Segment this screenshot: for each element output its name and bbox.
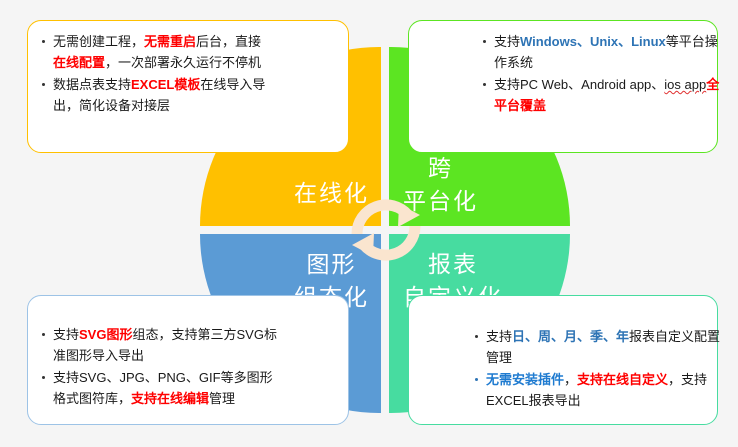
text-segment-highlight: EXCEL模板 [131,77,200,92]
text-segment: 数据点表支持 [53,77,131,92]
text-segment: 支持 [494,34,520,49]
diagram-canvas: 在线化 跨 平台化 图形 组态化 报表 自定义化 [0,0,738,447]
list-item: 无需安装插件，支持在线自定义，支持EXCEL报表导出 [473,369,723,411]
text-segment: 无需创建工程， [53,34,144,49]
text-segment: 支持 [486,329,512,344]
text-segment: 支持PC Web、Android app、 [494,77,664,92]
text-segment: 后台，直接 [196,34,261,49]
quadrant-graphics-line1: 图形 [294,248,369,281]
callout-online: 无需创建工程，无需重启后台，直接在线配置，一次部署永久运行不停机 数据点表支持E… [27,20,349,153]
text-segment: ，一次部署永久运行不停机 [105,55,261,70]
list-item: 支持PC Web、Android app、ios app全平台覆盖 [481,74,721,116]
callout-online-list: 无需创建工程，无需重启后台，直接在线配置，一次部署永久运行不停机 数据点表支持E… [40,31,270,116]
list-item: 支持SVG图形组态，支持第三方SVG标准图形导入导出 [40,324,278,366]
text-segment-highlight: 在线配置 [53,55,105,70]
text-segment-highlight: 支持在线自定义 [577,372,668,387]
callout-graphics-list: 支持SVG图形组态，支持第三方SVG标准图形导入导出 支持SVG、JPG、PNG… [40,324,278,409]
quadrant-cross-platform-line1: 跨 [403,152,478,185]
list-item: 支持日、周、月、季、年报表自定义配置管理 [473,326,723,368]
list-item: 数据点表支持EXCEL模板在线导入导出，简化设备对接层 [40,74,270,116]
text-segment-highlight: 无需重启 [144,34,196,49]
list-item: 支持SVG、JPG、PNG、GIF等多图形格式图符库，支持在线编辑管理 [40,367,278,409]
text-segment-highlight: 日、周、月、季、年 [512,329,629,344]
quadrant-cross-platform-label: 跨 平台化 [403,152,478,218]
text-segment: 支持 [53,327,79,342]
list-item: 无需创建工程，无需重启后台，直接在线配置，一次部署永久运行不停机 [40,31,270,73]
text-segment: 管理 [209,391,235,406]
callout-reports: 支持日、周、月、季、年报表自定义配置管理 无需安装插件，支持在线自定义，支持EX… [408,295,718,425]
text-segment-misspelled: ios app [664,77,706,92]
text-segment-highlight: SVG图形 [79,327,132,342]
text-segment-highlight: Windows、Unix、Linux [520,34,666,49]
quadrant-online-label: 在线化 [294,177,369,210]
quadrant-cross-platform-line2: 平台化 [403,185,478,218]
list-item: 支持Windows、Unix、Linux等平台操作系统 [481,31,721,73]
quadrant-reports-line1: 报表 [403,248,503,281]
text-segment: ， [564,372,577,387]
callout-reports-list: 支持日、周、月、季、年报表自定义配置管理 无需安装插件，支持在线自定义，支持EX… [473,326,723,411]
text-segment-highlight: 支持在线编辑 [131,391,209,406]
callout-cross-platform-list: 支持Windows、Unix、Linux等平台操作系统 支持PC Web、And… [481,31,721,116]
callout-graphics: 支持SVG图形组态，支持第三方SVG标准图形导入导出 支持SVG、JPG、PNG… [27,295,349,425]
text-segment-highlight: 无需安装插件 [486,372,564,387]
callout-cross-platform: 支持Windows、Unix、Linux等平台操作系统 支持PC Web、And… [408,20,718,153]
